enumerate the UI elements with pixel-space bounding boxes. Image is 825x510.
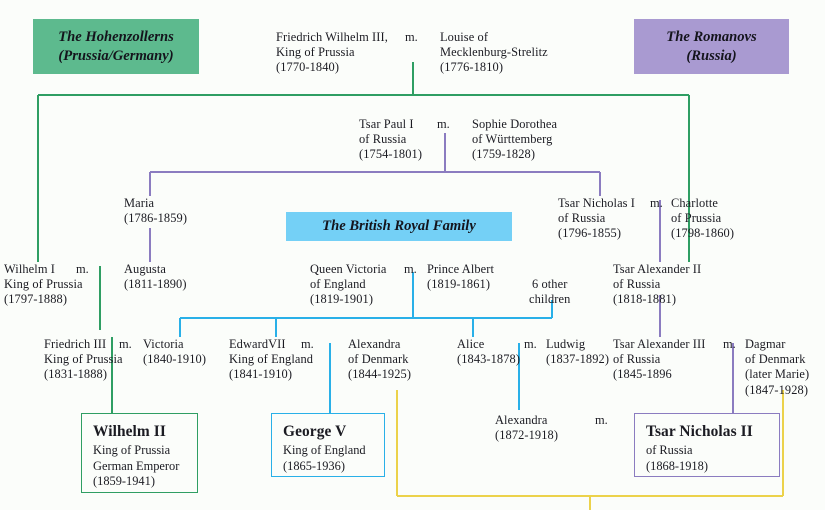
person-line-2: (1872-1918)	[495, 428, 558, 443]
person-sophie-dorothea: Sophie Dorothea of Württemberg (1759-182…	[472, 117, 557, 163]
person-line-2: King of England	[229, 352, 313, 367]
person-line-3: (1819-1901)	[310, 292, 386, 307]
person-line-2: (1786-1859)	[124, 211, 187, 226]
person-line-1: Augusta	[124, 262, 187, 277]
person-augusta: Augusta (1811-1890)	[124, 262, 187, 292]
person-maria: Maria (1786-1859)	[124, 196, 187, 226]
person-line-2: of Russia	[359, 132, 422, 147]
marriage-symbol-alexander3-dagmar: m.	[723, 337, 736, 352]
person-line-2: children	[529, 292, 570, 307]
person-tsar-paul-i: Tsar Paul I of Russia (1754-1801)	[359, 117, 422, 163]
person-line-1: Tsar Alexander II	[613, 262, 701, 277]
marriage-symbol-nicholas1-charlotte: m.	[650, 196, 663, 211]
person-line-1: Louise of	[440, 30, 548, 45]
figure-line-3: (1859-1941)	[93, 474, 197, 490]
person-line-3: (later Marie)	[745, 367, 809, 382]
marriage-symbol-paul-sophie: m.	[437, 117, 450, 132]
person-prince-albert: Prince Albert (1819-1861)	[427, 262, 494, 292]
person-six-other-children: 6 other children	[529, 277, 570, 307]
person-line-3: (1841-1910)	[229, 367, 313, 382]
person-line-2: of Prussia	[671, 211, 734, 226]
person-line-1: Dagmar	[745, 337, 809, 352]
person-line-2: (1840-1910)	[143, 352, 206, 367]
person-friedrich-wilhelm-iii: Friedrich Wilhelm III, King of Prussia (…	[276, 30, 388, 76]
banner-british-royal-family: The British Royal Family	[286, 212, 512, 241]
person-line-2: of Württemberg	[472, 132, 557, 147]
person-line-2: of Russia	[613, 352, 705, 367]
person-line-3: (1818-1881)	[613, 292, 701, 307]
person-line-2: of Denmark	[348, 352, 411, 367]
figure-line-1: King of England	[283, 443, 384, 459]
person-line-1: Alice	[457, 337, 520, 352]
figure-name: George V	[283, 421, 384, 442]
marriage-symbol-friedrich3-victoria: m.	[119, 337, 132, 352]
person-line-1: Tsar Alexander III	[613, 337, 705, 352]
person-alexandra-of-denmark: Alexandra of Denmark (1844-1925)	[348, 337, 411, 383]
person-line-2: (1837-1892)	[546, 352, 609, 367]
figure-name: Wilhelm II	[93, 421, 197, 442]
person-line-1: 6 other	[529, 277, 570, 292]
person-line-3: (1754-1801)	[359, 147, 422, 162]
person-line-1: Ludwig	[546, 337, 609, 352]
person-line-2: (1819-1861)	[427, 277, 494, 292]
person-line-1: Friedrich III	[44, 337, 123, 352]
person-line-3: (1798-1860)	[671, 226, 734, 241]
banner-british-line1: The British Royal Family	[322, 217, 476, 236]
person-line-2: Mecklenburg-Strelitz	[440, 45, 548, 60]
figure-line-2: German Emperor	[93, 459, 197, 475]
person-line-4: (1847-1928)	[745, 383, 809, 398]
figure-name: Tsar Nicholas II	[646, 421, 779, 442]
figure-line-1: of Russia	[646, 443, 779, 459]
person-line-2: King of Prussia	[44, 352, 123, 367]
marriage-symbol-victoria-albert: m.	[404, 262, 417, 277]
marriage-symbol-alice-ludwig: m.	[524, 337, 537, 352]
figure-line-2: (1868-1918)	[646, 459, 779, 475]
banner-romanovs: The Romanovs (Russia)	[634, 19, 789, 74]
person-line-3: (1759-1828)	[472, 147, 557, 162]
person-line-1: Alexandra	[495, 413, 558, 428]
person-tsar-nicholas-i: Tsar Nicholas I of Russia (1796-1855)	[558, 196, 635, 242]
person-line-1: Friedrich Wilhelm III,	[276, 30, 388, 45]
person-line-1: Victoria	[143, 337, 206, 352]
person-line-1: Maria	[124, 196, 187, 211]
family-tree-canvas: The Hohenzollerns (Prussia/Germany) The …	[0, 0, 825, 510]
person-charlotte-of-prussia: Charlotte of Prussia (1798-1860)	[671, 196, 734, 242]
person-line-1: Sophie Dorothea	[472, 117, 557, 132]
person-line-1: Alexandra	[348, 337, 411, 352]
person-line-3: (1844-1925)	[348, 367, 411, 382]
person-line-2: (1843-1878)	[457, 352, 520, 367]
person-dagmar-of-denmark: Dagmar of Denmark (later Marie) (1847-19…	[745, 337, 809, 398]
figure-line-2: (1865-1936)	[283, 459, 384, 475]
person-wilhelm-i: Wilhelm I King of Prussia (1797-1888)	[4, 262, 83, 308]
person-line-3: (1831-1888)	[44, 367, 123, 382]
person-alexandra-of-hesse: Alexandra (1872-1918)	[495, 413, 558, 443]
person-line-1: Prince Albert	[427, 262, 494, 277]
person-line-3: (1776-1810)	[440, 60, 548, 75]
person-tsar-alexander-ii: Tsar Alexander II of Russia (1818-1881)	[613, 262, 701, 308]
person-line-2: of Russia	[613, 277, 701, 292]
person-line-1: Tsar Nicholas I	[558, 196, 635, 211]
banner-hohenzollerns-line1: The Hohenzollerns	[58, 28, 174, 47]
figure-box-george-v: George V King of England (1865-1936)	[271, 413, 385, 477]
marriage-symbol-wilhelm1-augusta: m.	[76, 262, 89, 277]
figure-line-1: King of Prussia	[93, 443, 197, 459]
person-line-2: of Russia	[558, 211, 635, 226]
person-line-2: of Denmark	[745, 352, 809, 367]
person-line-1: Charlotte	[671, 196, 734, 211]
person-line-2: (1811-1890)	[124, 277, 187, 292]
person-ludwig: Ludwig (1837-1892)	[546, 337, 609, 367]
person-alice: Alice (1843-1878)	[457, 337, 520, 367]
person-friedrich-iii: Friedrich III King of Prussia (1831-1888…	[44, 337, 123, 383]
person-line-1: Queen Victoria	[310, 262, 386, 277]
figure-box-wilhelm-ii: Wilhelm II King of Prussia German Empero…	[81, 413, 198, 493]
banner-hohenzollerns-line2: (Prussia/Germany)	[58, 47, 174, 66]
banner-romanovs-line1: The Romanovs	[666, 28, 756, 47]
person-line-3: (1845-1896	[613, 367, 705, 382]
person-line-2: King of Prussia	[276, 45, 388, 60]
marriage-symbol-fw3-louise: m.	[405, 30, 418, 45]
person-tsar-alexander-iii: Tsar Alexander III of Russia (1845-1896	[613, 337, 705, 383]
marriage-symbol-alexandra-nicholas2: m.	[595, 413, 608, 428]
person-line-3: (1770-1840)	[276, 60, 388, 75]
person-victoria-princess-royal: Victoria (1840-1910)	[143, 337, 206, 367]
person-line-2: King of Prussia	[4, 277, 83, 292]
person-line-1: Tsar Paul I	[359, 117, 422, 132]
person-queen-victoria: Queen Victoria of England (1819-1901)	[310, 262, 386, 308]
banner-romanovs-line2: (Russia)	[666, 47, 756, 66]
marriage-symbol-edward7-alexandra: m.	[301, 337, 314, 352]
person-louise-mecklenburg-strelitz: Louise of Mecklenburg-Strelitz (1776-181…	[440, 30, 548, 76]
person-line-2: of England	[310, 277, 386, 292]
figure-box-tsar-nicholas-ii: Tsar Nicholas II of Russia (1868-1918)	[634, 413, 780, 477]
person-line-3: (1797-1888)	[4, 292, 83, 307]
person-line-3: (1796-1855)	[558, 226, 635, 241]
banner-hohenzollerns: The Hohenzollerns (Prussia/Germany)	[33, 19, 199, 74]
person-line-1: Wilhelm I	[4, 262, 83, 277]
